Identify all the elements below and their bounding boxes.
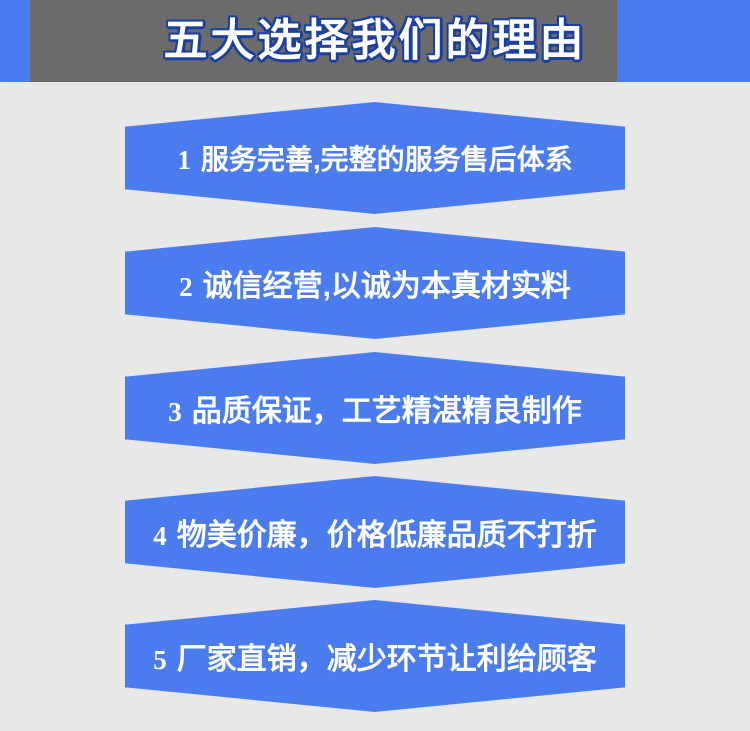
reason-text-4: 物美价廉，价格低廉品质不打折 [177, 510, 597, 554]
reason-banner-2: 2 诚信经营,以诚为本真材实料 [125, 227, 625, 339]
promo-poster: 五大选择我们的理由 1 服务完善,完整的服务售后体系 2 诚信经营,以诚为本真材… [0, 0, 750, 731]
reason-text-3: 品质保证，工艺精湛精良制作 [192, 386, 582, 430]
reason-text-5: 厂家直销，减少环节让利给顾客 [177, 634, 597, 678]
reasons-list: 1 服务完善,完整的服务售后体系 2 诚信经营,以诚为本真材实料 3 品质保证，… [0, 82, 750, 731]
reason-number-1: 1 [177, 145, 191, 176]
reason-number-2: 2 [179, 272, 193, 303]
reason-banner-content-3: 3 品质保证，工艺精湛精良制作 [168, 386, 582, 430]
list-item: 3 品质保证，工艺精湛精良制作 [0, 352, 750, 464]
reason-banner-content-2: 2 诚信经营,以诚为本真材实料 [179, 261, 571, 305]
list-item: 4 物美价廉，价格低廉品质不打折 [0, 476, 750, 588]
reason-banner-content-4: 4 物美价廉，价格低廉品质不打折 [153, 510, 597, 554]
reason-text-1: 服务完善,完整的服务售后体系 [201, 138, 573, 178]
list-item: 1 服务完善,完整的服务售后体系 [0, 102, 750, 214]
reason-banner-5: 5 厂家直销，减少环节让利给顾客 [125, 600, 625, 712]
reason-banner-content-5: 5 厂家直销，减少环节让利给顾客 [153, 634, 597, 678]
poster-header: 五大选择我们的理由 [0, 0, 750, 82]
reason-banner-content-1: 1 服务完善,完整的服务售后体系 [177, 138, 572, 178]
reason-number-5: 5 [153, 645, 167, 676]
reason-number-4: 4 [153, 521, 167, 552]
list-item: 2 诚信经营,以诚为本真材实料 [0, 227, 750, 339]
reason-number-3: 3 [168, 397, 182, 428]
list-item: 5 厂家直销，减少环节让利给顾客 [0, 600, 750, 712]
page-title: 五大选择我们的理由 [0, 0, 750, 82]
reason-text-2: 诚信经营,以诚为本真材实料 [203, 261, 571, 305]
reason-banner-3: 3 品质保证，工艺精湛精良制作 [125, 352, 625, 464]
reason-banner-1: 1 服务完善,完整的服务售后体系 [125, 102, 625, 214]
reason-banner-4: 4 物美价廉，价格低廉品质不打折 [125, 476, 625, 588]
